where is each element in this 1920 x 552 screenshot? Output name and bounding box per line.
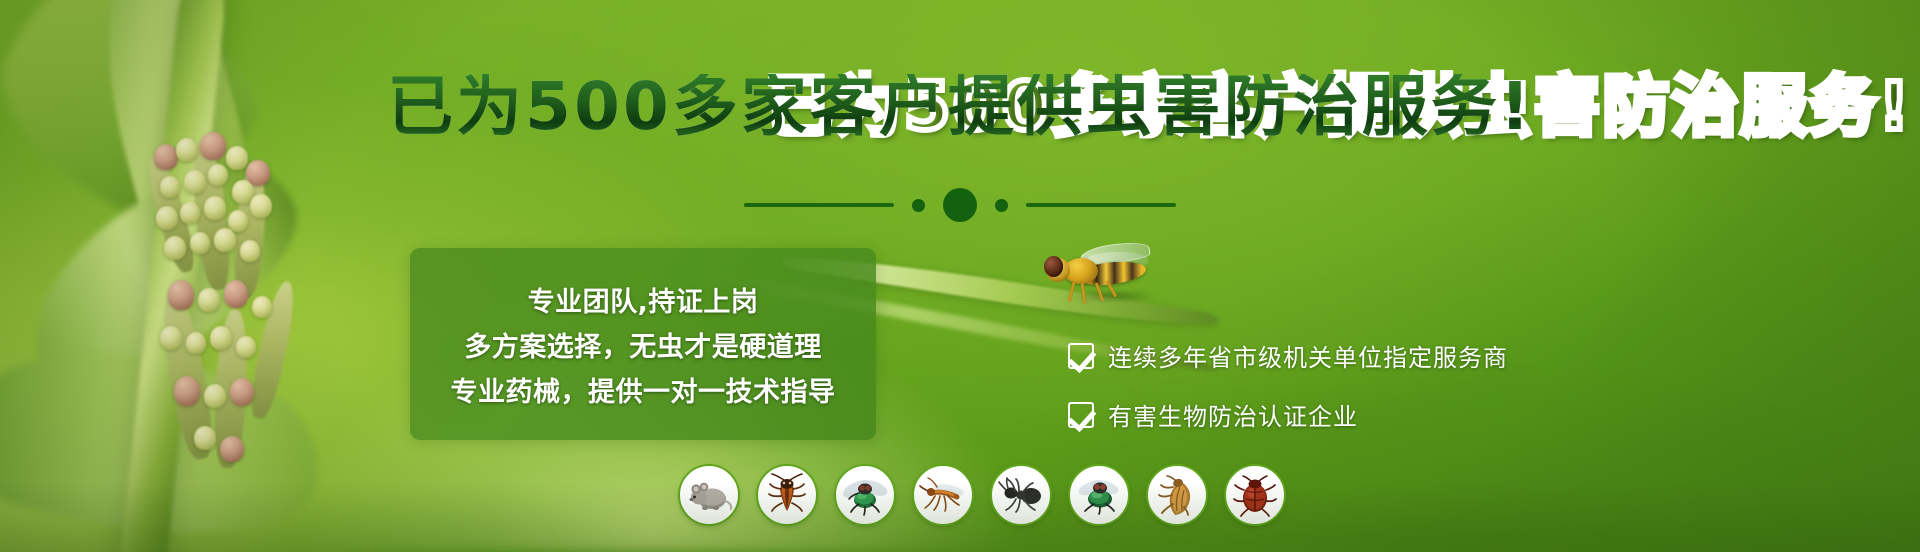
- pest-icon-bedbug[interactable]: [1226, 466, 1284, 524]
- ornament-line-right: [1026, 203, 1176, 207]
- credential-label-1: 连续多年省市级机关单位指定服务商: [1108, 338, 1508, 373]
- panel-line-2: 多方案选择，无虫才是硬道理: [464, 325, 822, 364]
- checkbox-checked-icon: [1068, 343, 1094, 369]
- pest-type-icon-row: [680, 466, 1284, 524]
- housefly-icon: [841, 471, 889, 519]
- ornament-dot-small-right: [995, 199, 1008, 212]
- mouse-icon: [685, 471, 733, 519]
- credential-item-1: 连续多年省市级机关单位指定服务商: [1068, 338, 1508, 373]
- pest-icon-flea[interactable]: [1148, 466, 1206, 524]
- credentials-list: 连续多年省市级机关单位指定服务商 有害生物防治认证企业: [1068, 338, 1508, 432]
- pest-control-hero-banner: 已为500多家客户提供虫害防治服务! 已为500多家客户提供虫害防治服务! 专业…: [0, 0, 1920, 552]
- headline-ornament: [0, 188, 1920, 222]
- pest-icon-housefly[interactable]: [836, 466, 894, 524]
- ornament-dot-large: [943, 188, 977, 222]
- pest-icon-mouse[interactable]: [680, 466, 738, 524]
- pest-icon-ant[interactable]: [992, 466, 1050, 524]
- pest-icon-mosquito[interactable]: [914, 466, 972, 524]
- mosquito-icon: [919, 471, 967, 519]
- credential-item-2: 有害生物防治认证企业: [1068, 397, 1508, 432]
- banner-headline: 已为500多家客户提供虫害防治服务! 已为500多家客户提供虫害防治服务!: [0, 74, 1920, 140]
- ornament-dot-small-left: [912, 199, 925, 212]
- panel-line-1: 专业团队,持证上岗: [528, 280, 759, 319]
- pest-icon-cockroach[interactable]: [758, 466, 816, 524]
- panel-line-3: 专业药械，提供一对一技术指导: [451, 370, 836, 409]
- ant-icon: [997, 471, 1045, 519]
- checkbox-checked-icon: [1068, 402, 1094, 428]
- ornament-line-left: [744, 203, 894, 207]
- headline-text: 已为500多家客户提供虫害防治服务!: [379, 74, 1541, 140]
- greenfly-icon: [1075, 471, 1123, 519]
- cockroach-icon: [763, 471, 811, 519]
- bedbug-icon: [1231, 471, 1279, 519]
- selling-points-panel: 专业团队,持证上岗 多方案选择，无虫才是硬道理 专业药械，提供一对一技术指导: [410, 248, 876, 440]
- pest-icon-greenfly[interactable]: [1070, 466, 1128, 524]
- credential-label-2: 有害生物防治认证企业: [1108, 397, 1358, 432]
- flea-icon: [1153, 471, 1201, 519]
